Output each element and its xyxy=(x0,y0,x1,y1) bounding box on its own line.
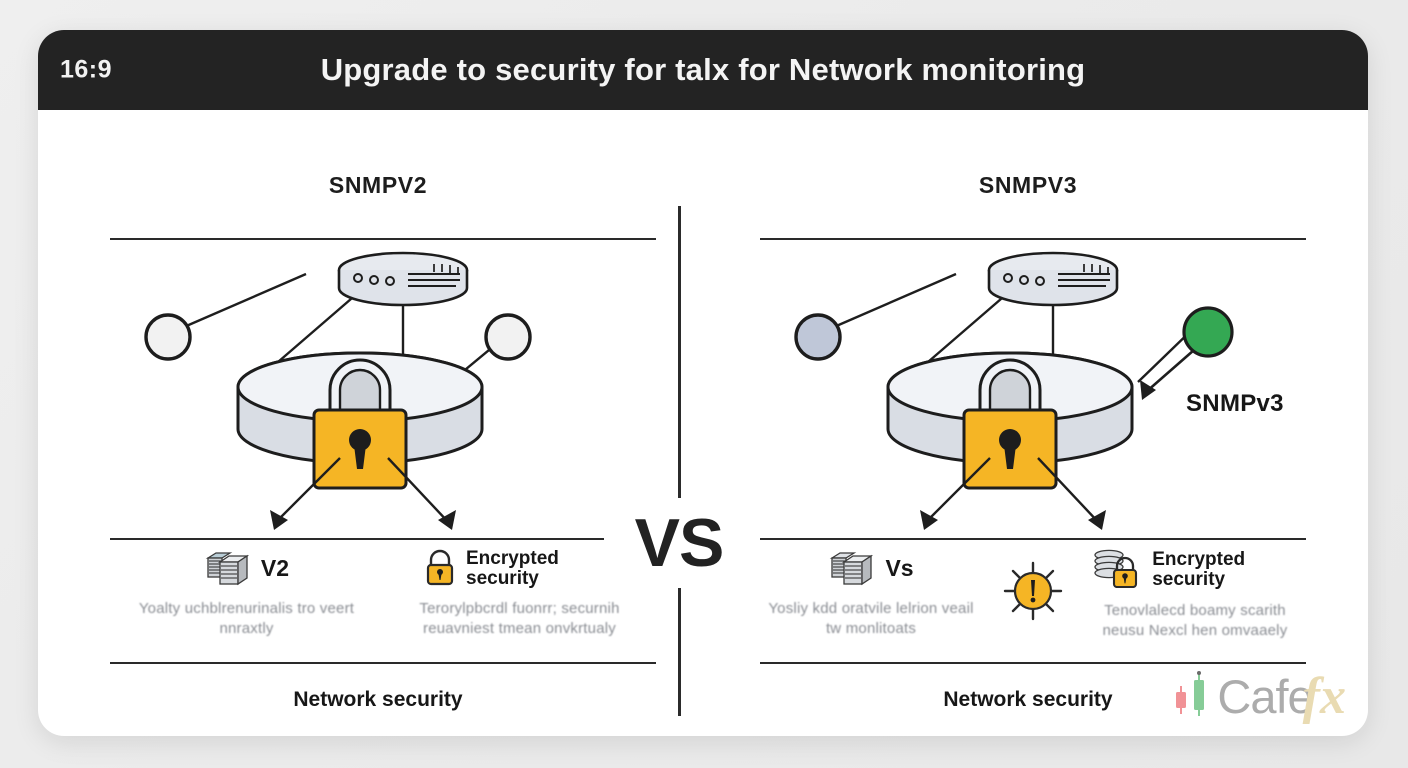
slide-canvas: 16:9 Upgrade to security for talx for Ne… xyxy=(0,0,1408,768)
slide-header: 16:9 Upgrade to security for talx for Ne… xyxy=(38,30,1368,110)
server-stack-icon xyxy=(204,546,252,591)
padlock-icon xyxy=(423,546,457,591)
divider-line-bottom xyxy=(760,662,1306,664)
divider-line-bottom xyxy=(110,662,656,664)
panel-title-snmpv2: SNMPV2 xyxy=(78,172,678,199)
feature-description: Yosliy kdd oratvile lelrion veail tw mon… xyxy=(767,599,974,640)
feature-label: Vs xyxy=(885,557,913,580)
divider-line-mid xyxy=(760,538,1306,540)
node-circle-left xyxy=(796,315,840,359)
feature-description: Tenovlalecd boamy scarith neusu Nexcl he… xyxy=(1091,601,1298,642)
feature-alert xyxy=(989,546,1076,627)
callout-arrow xyxy=(1146,350,1194,392)
diagram-snmpv3: SNMPv3 xyxy=(728,242,1328,534)
node-circle-right xyxy=(486,315,530,359)
divider-line-mid xyxy=(110,538,656,540)
callout-label-snmpv3: SNMPv3 xyxy=(1186,390,1284,418)
slide-title: Upgrade to security for talx for Network… xyxy=(38,52,1368,88)
server-drum-icon xyxy=(989,253,1117,305)
feature-label: Encrypted security xyxy=(466,549,616,588)
diagram-snmpv3-svg xyxy=(728,242,1328,534)
slide-body: SNMPV2 xyxy=(38,110,1368,736)
server-drum-icon xyxy=(339,253,467,305)
node-circle-left xyxy=(146,315,190,359)
sunburst-alert-icon xyxy=(1002,560,1064,627)
feature-label: Encrypted security xyxy=(1152,550,1298,589)
feature-description: Yoalty uchblrenurinalis tro veert nnraxt… xyxy=(121,599,372,640)
node-circle-right xyxy=(1184,308,1232,356)
logo-wordmark: Cafe xyxy=(1217,669,1312,724)
panel-footer-snmpv2: Network security xyxy=(78,688,678,712)
candlestick-icon xyxy=(1169,668,1213,725)
center-divider xyxy=(678,206,681,716)
aspect-ratio-badge: 16:9 xyxy=(60,56,112,85)
divider-line-top xyxy=(760,238,1306,240)
feature-v2: V2 Yoalty uchblrenurinalis tro veert nnr… xyxy=(121,546,372,640)
slide-card: 16:9 Upgrade to security for talx for Ne… xyxy=(38,30,1368,736)
feature-description: Terorylpbcrdl fuonrr; securnih reuavnies… xyxy=(394,599,645,640)
brand-logo: Cafe fx xyxy=(1169,667,1346,726)
disk-stack-lock-icon xyxy=(1091,546,1143,593)
panel-title-snmpv3: SNMPV3 xyxy=(728,172,1328,199)
server-stack-icon xyxy=(828,546,876,591)
panel-snmpv3: SNMPV3 xyxy=(728,110,1328,736)
divider-line-top xyxy=(110,238,656,240)
panel-snmpv2: SNMPV2 xyxy=(78,110,678,736)
diagram-snmpv2-svg xyxy=(78,242,678,534)
feature-encrypted-security: Encrypted security Tenovlalecd boamy sca… xyxy=(1091,546,1298,642)
feature-vs: Vs Yosliy kdd oratvile lelrion veail tw … xyxy=(767,546,974,640)
diagram-snmpv2 xyxy=(78,242,678,534)
feature-row-snmpv2: V2 Yoalty uchblrenurinalis tro veert nnr… xyxy=(110,546,656,658)
feature-row-snmpv3: Vs Yosliy kdd oratvile lelrion veail tw … xyxy=(760,546,1306,658)
callout-arrowhead xyxy=(1140,380,1156,400)
logo-suffix: fx xyxy=(1303,667,1346,726)
feature-label: V2 xyxy=(261,557,289,580)
